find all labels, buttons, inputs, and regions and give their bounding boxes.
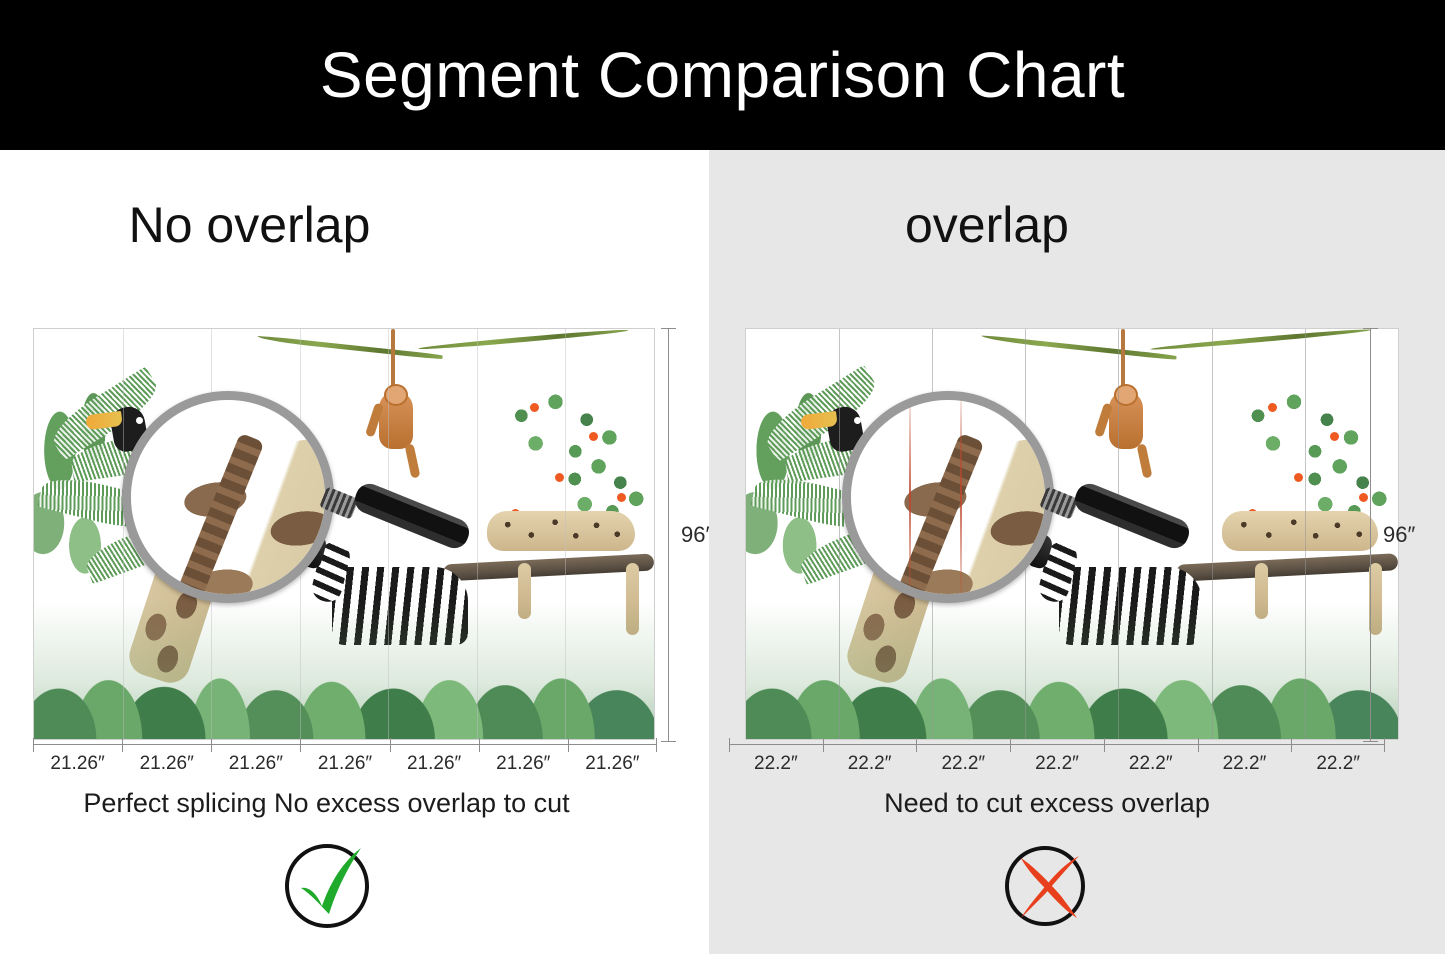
ruler-segment: 22.2″ xyxy=(729,744,823,784)
segment-width-label: 22.2″ xyxy=(1291,753,1385,775)
mural-image xyxy=(745,328,1399,740)
cross-circle-icon xyxy=(999,836,1095,932)
ruler-tick xyxy=(1384,738,1385,752)
magnifier-lens xyxy=(122,391,334,603)
ruler-segment: 21.26″ xyxy=(300,744,389,784)
width-ruler-right: 22.2″ 22.2″ 22.2″ 22.2″ 22.2″ xyxy=(729,744,1385,784)
segment-width-label: 21.26″ xyxy=(390,753,479,775)
berry-icon xyxy=(555,473,564,482)
segment-width-label: 21.26″ xyxy=(300,753,389,775)
ruler-tick xyxy=(1104,738,1105,752)
mural-seam xyxy=(565,329,566,739)
ruler-tick xyxy=(122,738,123,752)
status-badge-cross xyxy=(709,836,1445,932)
overlap-seam-line xyxy=(960,400,962,594)
mural-seam xyxy=(1118,329,1119,739)
ruler-tick xyxy=(1198,738,1199,752)
header-banner: Segment Comparison Chart xyxy=(0,0,1445,150)
comparison-panels: No overlap xyxy=(0,150,1445,954)
panel-heading-no-overlap: No overlap xyxy=(0,196,709,254)
berry-icon xyxy=(589,432,598,441)
mural-seam xyxy=(477,329,478,739)
ruler-segment: 21.26″ xyxy=(568,744,657,784)
ruler-segment: 22.2″ xyxy=(1010,744,1104,784)
leopard-icon xyxy=(1222,511,1378,551)
undergrowth-foliage xyxy=(34,600,654,739)
ruler-segment: 22.2″ xyxy=(1291,744,1385,784)
segment-width-label: 21.26″ xyxy=(568,753,657,775)
mural-seam xyxy=(388,329,389,739)
leopard-icon xyxy=(487,511,636,551)
ruler-segment: 22.2″ xyxy=(823,744,917,784)
panel-heading-overlap: overlap xyxy=(709,196,1445,254)
segment-width-label: 22.2″ xyxy=(823,753,917,775)
ruler-tick xyxy=(729,738,730,752)
height-dimension-right: 96″ xyxy=(1363,328,1433,742)
ruler-tick xyxy=(823,738,824,752)
mural-overlap xyxy=(745,328,1399,740)
magnifier-view xyxy=(131,400,325,594)
ruler-tick xyxy=(568,738,569,752)
segment-width-label: 22.2″ xyxy=(916,753,1010,775)
panel-no-overlap: No overlap xyxy=(0,150,709,954)
mural-seam xyxy=(839,329,840,739)
height-label: 96″ xyxy=(1383,522,1415,548)
ruler-segment: 22.2″ xyxy=(916,744,1010,784)
segment-width-label: 21.26″ xyxy=(33,753,122,775)
ruler-tick xyxy=(390,738,391,752)
ruler-segment: 21.26″ xyxy=(390,744,479,784)
berry-icon xyxy=(617,493,626,502)
ruler-segment: 22.2″ xyxy=(1104,744,1198,784)
ruler-tick xyxy=(656,738,657,752)
segment-width-label: 22.2″ xyxy=(1198,753,1292,775)
segment-width-label: 22.2″ xyxy=(1010,753,1104,775)
ruler-tick xyxy=(1010,738,1011,752)
mural-seam xyxy=(123,329,124,739)
mural-seam xyxy=(1212,329,1213,739)
undergrowth-foliage xyxy=(746,600,1398,739)
caption-no-overlap: Perfect splicing No excess overlap to cu… xyxy=(0,788,709,819)
dimension-line xyxy=(668,328,669,742)
segment-width-label: 22.2″ xyxy=(1104,753,1198,775)
dimension-cap xyxy=(1363,741,1378,742)
check-circle-icon xyxy=(279,836,375,932)
ruler-tick xyxy=(33,738,34,752)
mural-seam xyxy=(1305,329,1306,739)
width-ruler-left: 21.26″ 21.26″ 21.26″ 21.26″ 21.26″ xyxy=(33,744,657,784)
ruler-tick xyxy=(1291,738,1292,752)
page-title: Segment Comparison Chart xyxy=(320,38,1125,112)
monkey-head-icon xyxy=(1114,384,1138,406)
berry-icon xyxy=(530,403,539,412)
ruler-tick xyxy=(916,738,917,752)
caption-overlap: Need to cut excess overlap xyxy=(709,788,1445,819)
segment-width-label: 21.26″ xyxy=(122,753,211,775)
segment-width-label: 21.26″ xyxy=(479,753,568,775)
magnifier-view xyxy=(851,400,1045,594)
ruler-tick xyxy=(300,738,301,752)
mural-image xyxy=(33,328,655,740)
segment-comparison-page: Segment Comparison Chart No overlap xyxy=(0,0,1445,954)
magnifier-lens xyxy=(842,391,1054,603)
dimension-cap xyxy=(661,741,676,742)
segment-width-label: 21.26″ xyxy=(211,753,300,775)
ruler-segment: 22.2″ xyxy=(1198,744,1292,784)
status-badge-check xyxy=(0,836,709,932)
berry-icon xyxy=(1330,432,1339,441)
segment-width-label: 22.2″ xyxy=(729,753,823,775)
ruler-segment: 21.26″ xyxy=(479,744,568,784)
ruler-segment: 21.26″ xyxy=(211,744,300,784)
ruler-segment: 21.26″ xyxy=(122,744,211,784)
berry-icon xyxy=(1294,473,1303,482)
ruler-tick xyxy=(479,738,480,752)
berry-icon xyxy=(1268,403,1277,412)
panel-overlap: overlap xyxy=(709,150,1445,954)
overlap-seam-line xyxy=(909,400,911,594)
dimension-line xyxy=(1370,328,1371,742)
mural-no-overlap xyxy=(33,328,655,740)
ruler-tick xyxy=(211,738,212,752)
ruler-segment: 21.26″ xyxy=(33,744,122,784)
